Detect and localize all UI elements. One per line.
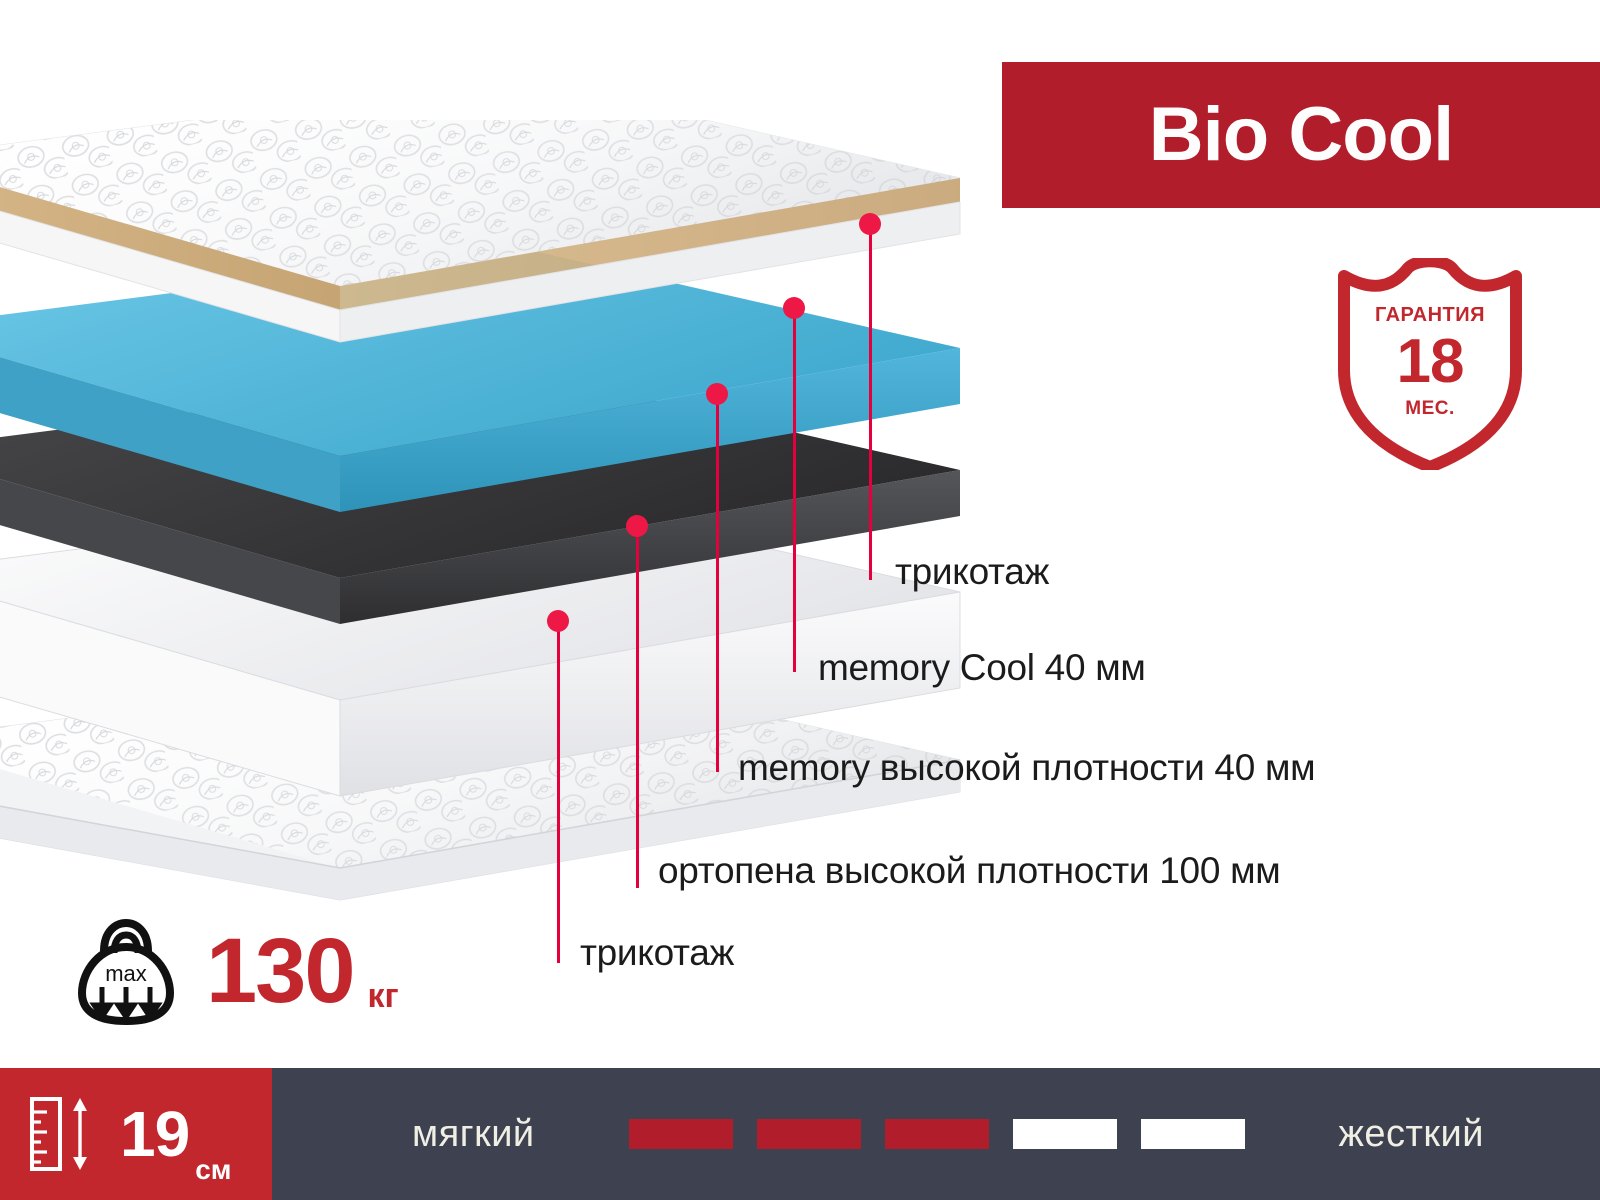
- kettlebell-max-text: max: [105, 961, 147, 986]
- firmness-segment-1: [629, 1119, 733, 1149]
- layer-label-ortopena: ортопена высокой плотности 100 мм: [658, 850, 1280, 892]
- max-weight-block: max 130 кг: [74, 916, 399, 1026]
- firmness-segment-2: [757, 1119, 861, 1149]
- leader-line-memory-density: [716, 398, 719, 772]
- max-weight-value: 130: [206, 925, 354, 1017]
- firmness-soft-label: мягкий: [412, 1113, 535, 1156]
- firmness-hard-label: жесткий: [1338, 1113, 1484, 1156]
- leader-dot-memory-density: [706, 383, 728, 405]
- leader-line-top-knit: [869, 228, 872, 580]
- kettlebell-icon: max: [74, 917, 178, 1025]
- layer-label-top-knit: трикотаж: [895, 551, 1049, 593]
- warranty-badge: ГАРАНТИЯ 18 МЕС.: [1330, 258, 1530, 470]
- firmness-segment-4: [1013, 1119, 1117, 1149]
- warranty-top-label: ГАРАНТИЯ: [1330, 304, 1530, 327]
- firmness-scale: [535, 1119, 1339, 1149]
- leader-line-ortopena: [636, 530, 639, 888]
- max-weight-unit: кг: [368, 977, 399, 1016]
- leader-dot-bottom-knit: [547, 610, 569, 632]
- height-unit: см: [195, 1154, 231, 1186]
- product-title-banner: Bio Cool: [1002, 62, 1600, 208]
- firmness-segment-3: [885, 1119, 989, 1149]
- firmness-block: мягкий жесткий: [272, 1068, 1600, 1200]
- layer-label-memory-cool: memory Cool 40 мм: [818, 647, 1146, 689]
- leader-dot-top-knit: [859, 213, 881, 235]
- layer-label-bottom-knit: трикотаж: [580, 932, 734, 974]
- height-block: 19 см: [0, 1068, 272, 1200]
- leader-line-memory-cool: [793, 312, 796, 672]
- warranty-unit: МЕС.: [1330, 398, 1530, 420]
- mattress-layers-illustration: [0, 120, 970, 920]
- leader-dot-memory-cool: [783, 297, 805, 319]
- page-title: Bio Cool: [1149, 97, 1453, 173]
- infographic-canvas: трикотаж memory Cool 40 мм memory высоко…: [0, 0, 1600, 1200]
- leader-line-bottom-knit: [557, 625, 560, 963]
- layer-label-memory-density: memory высокой плотности 40 мм: [738, 747, 1315, 789]
- specs-bottom-bar: 19 см мягкий жесткий: [0, 1068, 1600, 1200]
- firmness-segment-5: [1141, 1119, 1245, 1149]
- ruler-icon: [28, 1095, 102, 1173]
- leader-dot-ortopena: [626, 515, 648, 537]
- height-value: 19: [120, 1102, 189, 1166]
- warranty-value: 18: [1330, 326, 1530, 397]
